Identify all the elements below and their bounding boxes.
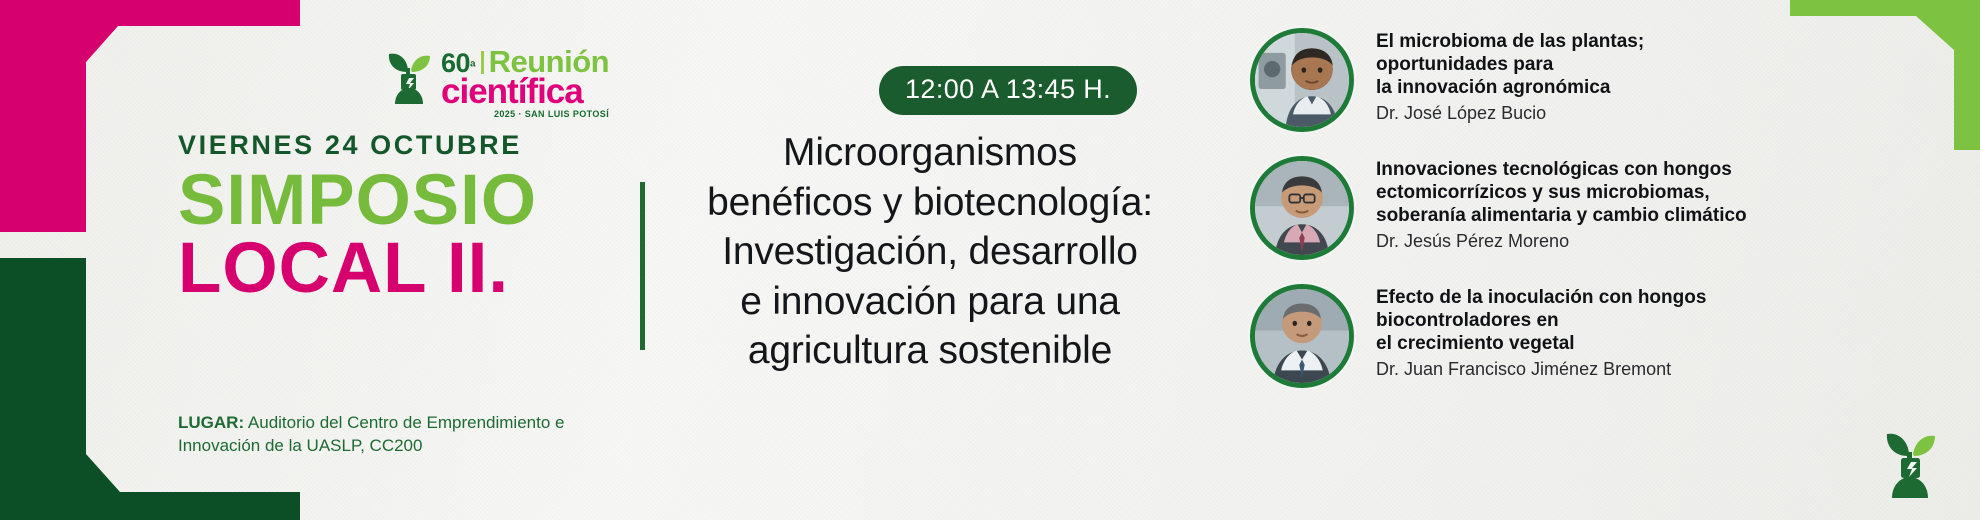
speaker-avatar bbox=[1250, 156, 1354, 260]
speaker-item: El microbioma de las plantas; oportunida… bbox=[1250, 28, 1970, 156]
event-banner: 60ª Reunión científica 2025 · SAN LUIS P… bbox=[0, 0, 1980, 520]
speaker-talk-title-line: oportunidades para bbox=[1376, 53, 1644, 76]
venue-label: LUGAR: bbox=[178, 413, 244, 432]
speaker-name: Dr. José López Bucio bbox=[1376, 102, 1644, 125]
venue-info: LUGAR: Auditorio del Centro de Emprendim… bbox=[178, 412, 578, 458]
time-badge: 12:00 A 13:45 H. bbox=[879, 66, 1137, 115]
session-title-line: Microorganismos bbox=[630, 128, 1230, 178]
speaker-talk-title-line: la innovación agronómica bbox=[1376, 76, 1644, 99]
sprout-logo-icon bbox=[383, 42, 435, 106]
event-date: VIERNES 24 OCTUBRE bbox=[178, 130, 638, 161]
session-title: Microorganismos benéficos y biotecnologí… bbox=[630, 128, 1230, 376]
speaker-talk-title-line: Innovaciones tecnológicas con hongos bbox=[1376, 158, 1747, 181]
speaker-talk-title-line: ectomicorrízicos y sus microbiomas, bbox=[1376, 181, 1747, 204]
speaker-talk-title-line: el crecimiento vegetal bbox=[1376, 332, 1706, 355]
conference-logo: 60ª Reunión científica 2025 · SAN LUIS P… bbox=[383, 42, 609, 119]
speaker-talk-title: El microbioma de las plantas; oportunida… bbox=[1376, 30, 1644, 100]
speaker-talk-title: Innovaciones tecnológicas con hongos ect… bbox=[1376, 158, 1747, 228]
event-title-line1: SIMPOSIO bbox=[178, 165, 638, 237]
speaker-name: Dr. Juan Francisco Jiménez Bremont bbox=[1376, 358, 1706, 381]
speaker-list: El microbioma de las plantas; oportunida… bbox=[1250, 28, 1970, 412]
speaker-name: Dr. Jesús Pérez Moreno bbox=[1376, 230, 1747, 253]
speaker-item: Innovaciones tecnológicas con hongos ect… bbox=[1250, 156, 1970, 284]
session-title-line: benéficos y biotecnología: bbox=[630, 178, 1230, 228]
speaker-item: Efecto de la inoculación con hongos bioc… bbox=[1250, 284, 1970, 412]
speaker-talk-title-line: El microbioma de las plantas; bbox=[1376, 30, 1644, 53]
session-title-line: Investigación, desarrollo bbox=[630, 227, 1230, 277]
event-title-line2: LOCAL II. bbox=[178, 233, 638, 305]
speaker-avatar bbox=[1250, 28, 1354, 132]
logo-word-cientifica: científica bbox=[441, 75, 609, 108]
speaker-talk-title-line: soberanía alimentaria y cambio climático bbox=[1376, 204, 1747, 227]
logo-divider bbox=[481, 51, 484, 74]
sprout-watermark-icon bbox=[1878, 418, 1944, 500]
speaker-talk-title-line: Efecto de la inoculación con hongos bbox=[1376, 286, 1706, 309]
speaker-talk-title: Efecto de la inoculación con hongos bioc… bbox=[1376, 286, 1706, 356]
session-title-line: agricultura sostenible bbox=[630, 326, 1230, 376]
event-left-block: VIERNES 24 OCTUBRE SIMPOSIO LOCAL II. bbox=[178, 130, 638, 306]
speaker-talk-title-line: biocontroladores en bbox=[1376, 309, 1706, 332]
session-title-line: e innovación para una bbox=[630, 277, 1230, 327]
speaker-avatar bbox=[1250, 284, 1354, 388]
